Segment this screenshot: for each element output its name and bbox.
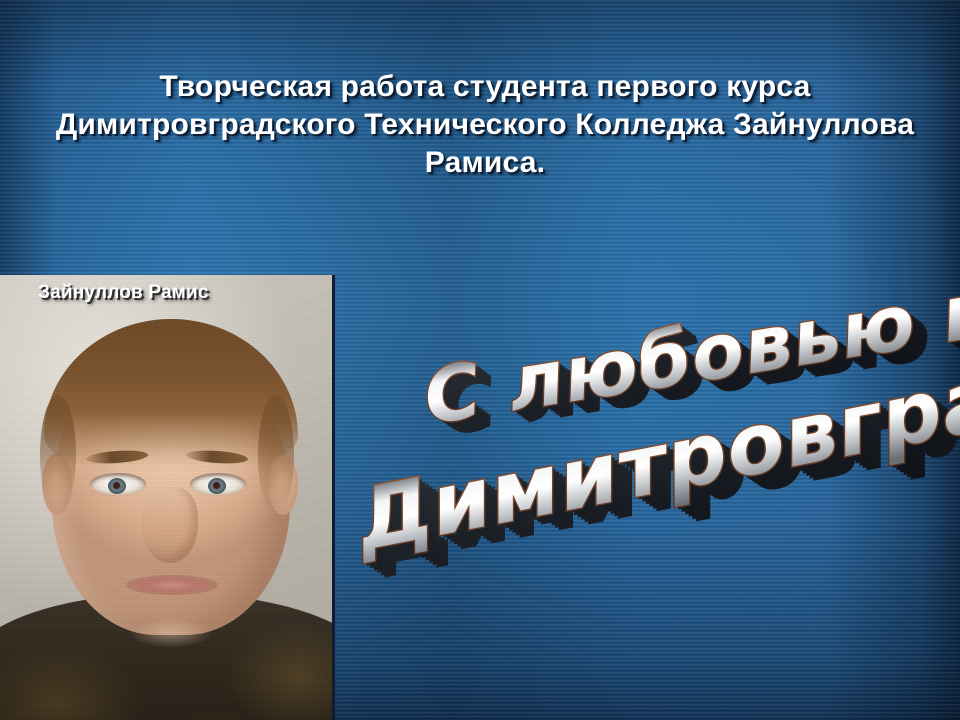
photo-hair-side-left: [40, 395, 76, 515]
photo-iris-right: [208, 478, 226, 494]
photo-eye-right: [190, 473, 246, 495]
photo-hair-side-right: [258, 395, 294, 515]
photo-iris-left: [108, 478, 126, 494]
slide-title: Творческая работа студента первого курса…: [40, 68, 930, 182]
photo-caption-label: Зайнуллов Рамис: [38, 282, 209, 304]
presentation-slide: Творческая работа студента первого курса…: [0, 0, 960, 720]
photo-chin: [116, 613, 226, 653]
photo-eye-left: [90, 473, 146, 495]
photo-nose: [142, 487, 198, 563]
portrait-photo: [0, 275, 335, 720]
photo-mouth: [126, 575, 218, 595]
wordart-graphic: С любовью к С любовью к С любовью к С лю…: [355, 318, 955, 608]
